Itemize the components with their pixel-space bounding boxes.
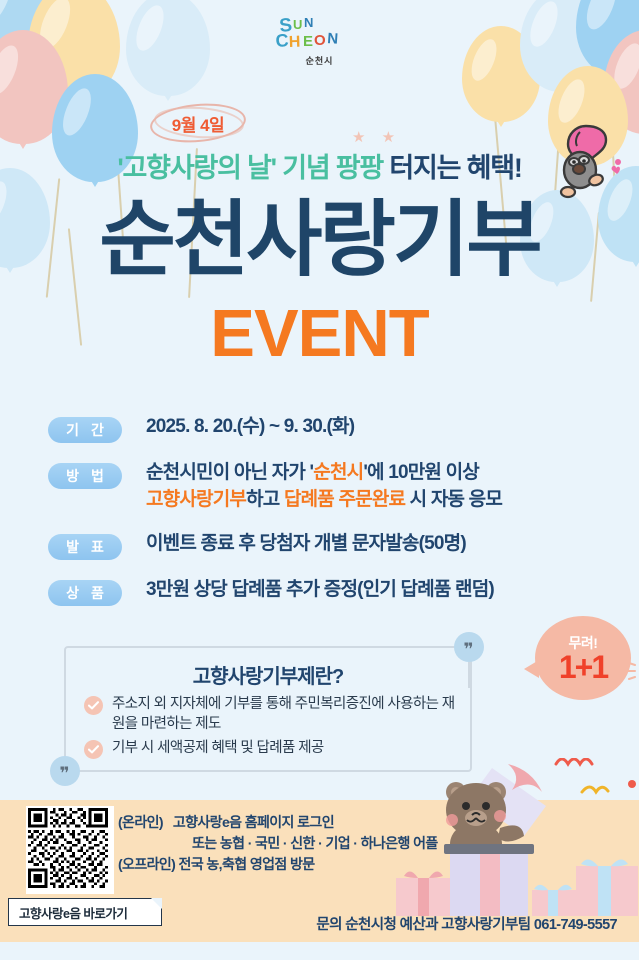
date-badge: 9월 4일	[150, 104, 246, 142]
qr-code[interactable]	[26, 806, 114, 894]
row-label-announcement: 발 표	[48, 534, 122, 560]
promo-bubble: 무려! 1+1	[535, 616, 631, 700]
row-value-period: 2025. 8. 20.(수) ~ 9. 30.(화)	[146, 414, 354, 441]
row-value-prize: 3만원 상당 답례품 추가 증정(인기 답례품 랜덤)	[146, 577, 494, 604]
svg-text:E: E	[303, 33, 313, 50]
svg-text:C: C	[274, 30, 288, 51]
page-title-event: EVENT	[0, 300, 639, 367]
promo-bubble-value: 1+1	[559, 651, 607, 683]
offline-text: 전국 농,축협 영업점 방문	[179, 856, 315, 872]
row-value-announcement: 이벤트 종료 후 당첨자 개별 문자발송(50명)	[146, 531, 466, 558]
gift-box-left	[396, 871, 450, 916]
row-line: 고향사랑기부하고 답례품 주문완료 시 자동 응모	[146, 487, 502, 514]
info-box-bullets: 주소지 외 지자체에 기부를 통해 주민복리증진에 사용하는 재원을 마련하는 …	[66, 695, 470, 759]
row-label-period: 기 간	[48, 417, 122, 443]
info-box: ❞ ❞ 고향사랑기부제란? 주소지 외 지자체에 기부를 통해 주민복리증진에 …	[64, 646, 472, 772]
quote-bubble-icon: ❞	[50, 756, 80, 786]
check-icon	[84, 740, 103, 759]
row-value-method: 순천시민이 아닌 자가 '순천시'에 10만원 이상 고향사랑기부하고 답례품 …	[146, 460, 502, 514]
list-item: 기부 시 세액공제 혜택 및 답례품 제공	[84, 739, 458, 759]
svg-text:N: N	[326, 30, 338, 48]
seg-highlight: 순천시	[313, 462, 363, 483]
row-line: 순천시민이 아닌 자가 '순천시'에 10만원 이상	[146, 460, 502, 487]
row-label-method: 방 법	[48, 463, 122, 489]
suncheon-logo-mark: S U N C H E O N	[274, 12, 366, 58]
gift-box-small	[532, 885, 576, 916]
detail-row: 기 간 2025. 8. 20.(수) ~ 9. 30.(화)	[48, 414, 608, 443]
quote-stem	[468, 662, 470, 688]
date-badge-label: 9월 4일	[172, 111, 224, 136]
subtitle-navy-part: 터지는 혜택!	[389, 153, 521, 183]
access-instructions: (온라인) 고향사랑e음 홈페이지 로그인 또는 농협 · 국민 · 신한 · …	[118, 812, 438, 875]
seg-highlight: 고향사랑기부	[146, 489, 246, 510]
row-label-prize: 상 품	[48, 580, 122, 606]
logo-city-name: 순천시	[0, 54, 639, 67]
go-to-gohyangsarang-button[interactable]: 고향사랑e음 바로가기	[8, 898, 162, 926]
svg-text:H: H	[288, 34, 300, 51]
check-icon	[84, 696, 103, 715]
sparkle-icon	[628, 660, 639, 682]
qr-code-image	[28, 808, 108, 888]
detail-row: 방 법 순천시민이 아닌 자가 '순천시'에 10만원 이상 고향사랑기부하고 …	[48, 460, 608, 514]
online-label: (온라인)	[118, 814, 163, 830]
subtitle-teal-part: '고향사랑의 날' 기념 팡팡	[117, 153, 383, 183]
detail-row: 상 품 3만원 상당 답례품 추가 증정(인기 답례품 랜덤)	[48, 577, 608, 606]
quote-bubble-icon: ❞	[454, 632, 484, 662]
confetti-icon	[556, 759, 592, 764]
suncheon-logo: S U N C H E O N 순천시	[0, 12, 639, 67]
access-online-line1: (온라인) 고향사랑e음 홈페이지 로그인	[118, 812, 438, 833]
row-line: 2025. 8. 20.(수) ~ 9. 30.(화)	[146, 414, 354, 441]
detail-rows: 기 간 2025. 8. 20.(수) ~ 9. 30.(화) 방 법 순천시민…	[48, 414, 608, 623]
row-line: 3만원 상당 답례품 추가 증정(인기 답례품 랜덤)	[146, 577, 494, 604]
online-text-2: 또는 농협 · 국민 · 신한 · 기업 · 하나은행 어플	[192, 835, 438, 851]
seg: 순천시민이 아닌 자가 '	[146, 462, 313, 483]
star-decor-icon: ★ ★	[352, 128, 401, 146]
offline-label: (오프라인)	[118, 856, 175, 872]
list-item-text: 기부 시 세액공제 혜택 및 답례품 제공	[112, 739, 324, 759]
gift-box-top	[444, 844, 534, 854]
confetti-icon	[582, 787, 608, 792]
row-line: 이벤트 종료 후 당첨자 개별 문자발송(50명)	[146, 531, 466, 558]
seg: '에 10만원 이상	[363, 462, 479, 483]
cta-label: 고향사랑e음 바로가기	[19, 903, 127, 922]
gift-box-right	[576, 859, 638, 916]
list-item-text: 주소지 외 지자체에 기부를 통해 주민복리증진에 사용하는 재원을 마련하는 …	[112, 695, 458, 734]
online-text-1: 고향사랑e음 홈페이지 로그인	[173, 814, 334, 830]
seg: 하고	[246, 489, 284, 510]
seg: 시 자동 응모	[405, 489, 502, 510]
svg-text:N: N	[304, 15, 313, 30]
balloon-shine	[57, 85, 96, 139]
contact-info: 문의 순천시청 예산과 고향사랑기부팀 061-749-5557	[316, 913, 617, 934]
confetti-dot	[628, 780, 636, 788]
info-box-heading: 고향사랑기부제란?	[66, 648, 470, 695]
access-online-line2: 또는 농협 · 국민 · 신한 · 기업 · 하나은행 어플	[118, 833, 438, 854]
page-title: 순천사랑기부	[0, 198, 639, 281]
svg-text:O: O	[314, 32, 326, 49]
poster-subtitle: '고향사랑의 날' 기념 팡팡 터지는 혜택!	[0, 146, 639, 185]
detail-row: 발 표 이벤트 종료 후 당첨자 개별 문자발송(50명)	[48, 531, 608, 560]
access-offline-line: (오프라인) 전국 농,축협 영업점 방문	[118, 854, 438, 875]
poster-root: S U N C H E O N 순천시 9월 4일 ★ ★ '고향사랑의 날' …	[0, 0, 639, 960]
seg-highlight: 답례품 주문완료	[284, 489, 405, 510]
mole-mascot-icon	[556, 118, 626, 206]
list-item: 주소지 외 지자체에 기부를 통해 주민복리증진에 사용하는 재원을 마련하는 …	[84, 695, 458, 734]
svg-text:U: U	[293, 17, 302, 32]
